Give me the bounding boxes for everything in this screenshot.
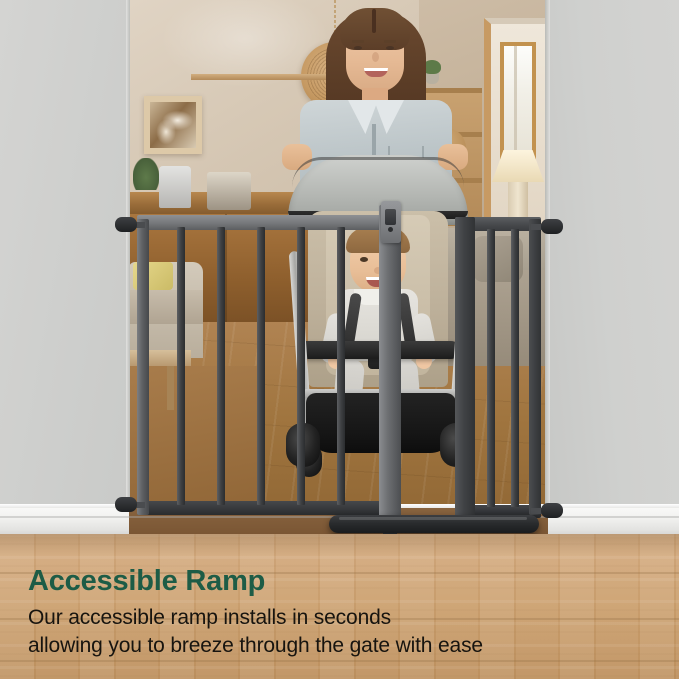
wall-mount-knob[interactable] [115, 217, 137, 232]
gate-post-right [529, 219, 541, 515]
caption-body-line-1: Our accessible ramp installs in seconds [28, 604, 648, 631]
wall-mount-knob[interactable] [541, 219, 563, 234]
product-image-scene: Accessible Ramp Our accessible ramp inst… [0, 0, 679, 679]
caption-heading: Accessible Ramp [28, 566, 648, 597]
nose [372, 52, 379, 62]
kitchen-appliance [159, 166, 191, 208]
caption-body-line-2: allowing you to breeze through the gate … [28, 632, 648, 659]
wall-mount-knob[interactable] [541, 503, 563, 518]
gate-post-left [137, 219, 149, 515]
window [500, 42, 536, 160]
wall-right-panel [548, 0, 679, 538]
gate-bar [177, 227, 185, 505]
eyebrow [384, 40, 396, 43]
wall-mount-knob[interactable] [115, 497, 137, 512]
wall-left-panel [0, 0, 129, 538]
counter-plant-icon [133, 158, 159, 190]
gate-extension-post [455, 217, 475, 517]
hair-part [372, 9, 376, 33]
caption-block: Accessible Ramp Our accessible ramp inst… [28, 566, 648, 659]
artwork-canvas [150, 102, 196, 148]
gate-bar [217, 227, 225, 505]
eye [354, 46, 362, 50]
eye [386, 46, 394, 50]
ramp-highlight [339, 517, 527, 520]
gate-latch-indicator [388, 227, 393, 232]
gate-extension-bar [487, 229, 495, 507]
baby-gate [129, 205, 549, 540]
canopy-rib [292, 157, 464, 187]
floor-shadow [0, 534, 679, 556]
framed-artwork [144, 96, 202, 154]
gate-bar [337, 227, 345, 505]
gate-latch-button[interactable] [385, 209, 396, 225]
gate-extension-bar [511, 229, 519, 507]
gate-bar [257, 227, 265, 505]
floor-plank-seam [0, 660, 679, 662]
gate-bar [297, 227, 305, 505]
gate-center-post [379, 205, 401, 523]
eyebrow [352, 40, 364, 43]
